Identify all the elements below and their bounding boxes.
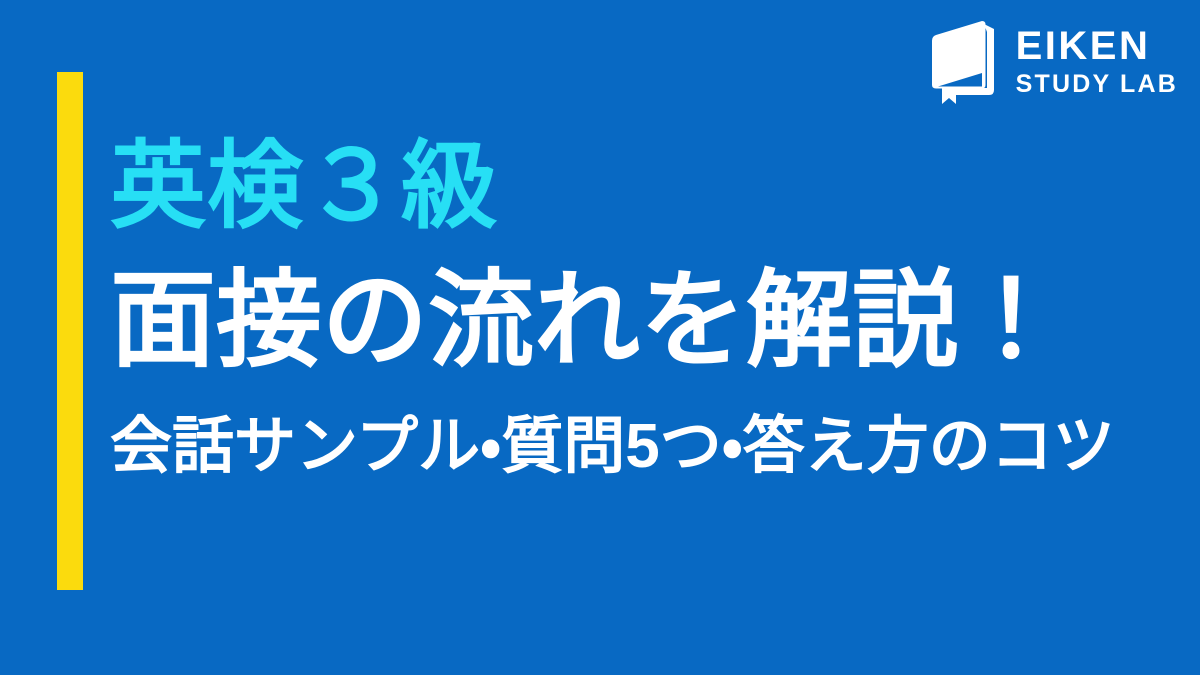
eyebrow-label: 英検３級 xyxy=(110,128,1180,245)
copy-block: 英検３級 面接の流れを解説！ 会話サンプル・質問5つ・答え方のコツ xyxy=(110,128,1180,486)
brand-subtitle: STUDY LAB xyxy=(1016,71,1178,99)
brand-name: EIKEN xyxy=(1016,25,1151,67)
yellow-accent-bar xyxy=(57,72,83,590)
eiken-study-lab-banner: EIKEN STUDY LAB 英検３級 面接の流れを解説！ 会話サンプル・質問… xyxy=(0,0,1200,675)
brand-logo: EIKEN STUDY LAB xyxy=(926,18,1178,104)
page-title: 面接の流れを解説！ xyxy=(110,257,1180,386)
subtitle: 会話サンプル・質問5つ・答え方のコツ xyxy=(110,408,1180,486)
open-book-icon xyxy=(926,18,1000,104)
brand-wordmark: EIKEN STUDY LAB xyxy=(1016,23,1178,99)
